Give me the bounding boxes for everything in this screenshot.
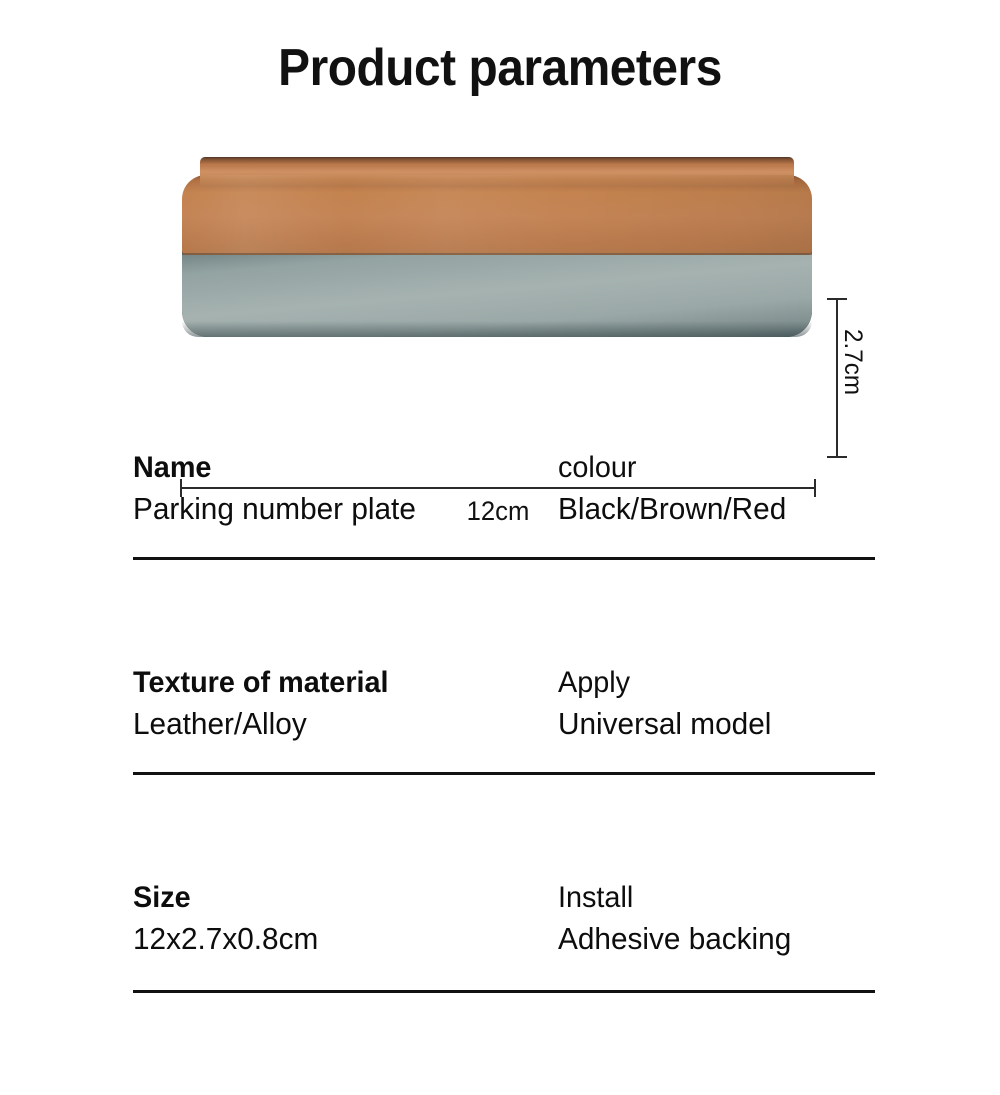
spec-row: Texture of material Leather/Alloy Apply … <box>133 662 875 877</box>
product-slate-base <box>182 249 812 337</box>
product-leather-lip <box>200 157 794 187</box>
spec-table: Name Parking number plate colour Black/B… <box>133 447 875 1095</box>
spec-label-size: Size <box>133 877 541 918</box>
height-dimension-label: 2.7cm <box>838 329 867 395</box>
spec-cell-name: Name Parking number plate <box>133 447 558 531</box>
page-title: Product parameters <box>40 40 960 97</box>
spec-cell-size: Size 12x2.7x0.8cm <box>133 877 558 961</box>
spec-value-size: 12x2.7x0.8cm <box>133 918 541 961</box>
spec-row-divider <box>133 772 875 775</box>
spec-cell-colour: colour Black/Brown/Red <box>558 447 875 531</box>
spec-label-apply: Apply <box>558 662 862 703</box>
spec-label-colour: colour <box>558 447 862 488</box>
spec-row-divider <box>133 557 875 560</box>
spec-row-divider <box>133 990 875 993</box>
spec-row: Size 12x2.7x0.8cm Install Adhesive backi… <box>133 877 875 1095</box>
product-seam-line <box>182 253 812 255</box>
product-leather-flap <box>182 175 812 255</box>
spec-value-texture: Leather/Alloy <box>133 703 541 746</box>
spec-value-install: Adhesive backing <box>558 918 862 961</box>
spec-row: Name Parking number plate colour Black/B… <box>133 447 875 662</box>
spec-value-name: Parking number plate <box>133 488 541 531</box>
spec-value-colour: Black/Brown/Red <box>558 488 862 531</box>
product-illustration <box>178 157 816 339</box>
spec-cell-install: Install Adhesive backing <box>558 877 875 961</box>
spec-cell-texture: Texture of material Leather/Alloy <box>133 662 558 746</box>
product-figure: 2.7cm 12cm <box>0 140 1000 400</box>
spec-cell-apply: Apply Universal model <box>558 662 875 746</box>
spec-value-apply: Universal model <box>558 703 862 746</box>
spec-label-name: Name <box>133 447 541 488</box>
spec-label-texture: Texture of material <box>133 662 541 703</box>
spec-label-install: Install <box>558 877 862 918</box>
